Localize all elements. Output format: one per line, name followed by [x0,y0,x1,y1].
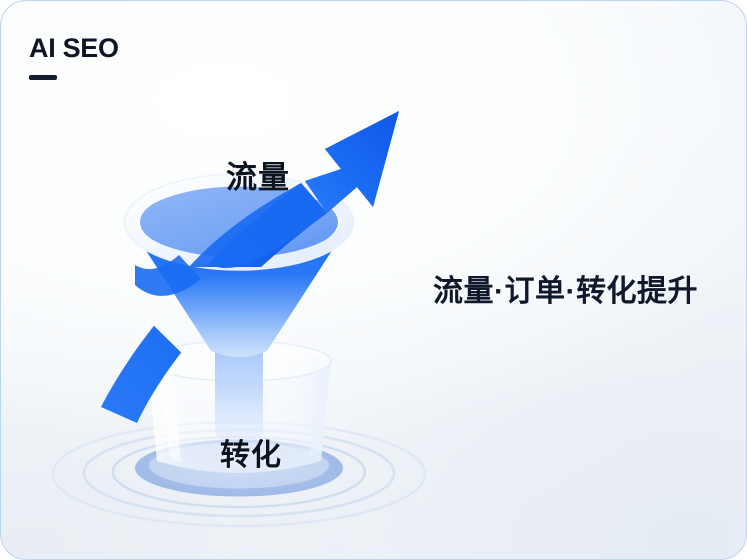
label-conversion: 转化 [220,430,282,474]
label-traffic: 流量 [226,152,290,197]
headline-text: 流量·订单·转化提升 [433,273,698,311]
brand-title-block: AI SEO [29,35,119,80]
title-rule-divider [29,75,57,80]
slide-card: AI SEO 流量·订单·转化提升 [0,0,747,560]
page-title: AI SEO [29,35,119,62]
